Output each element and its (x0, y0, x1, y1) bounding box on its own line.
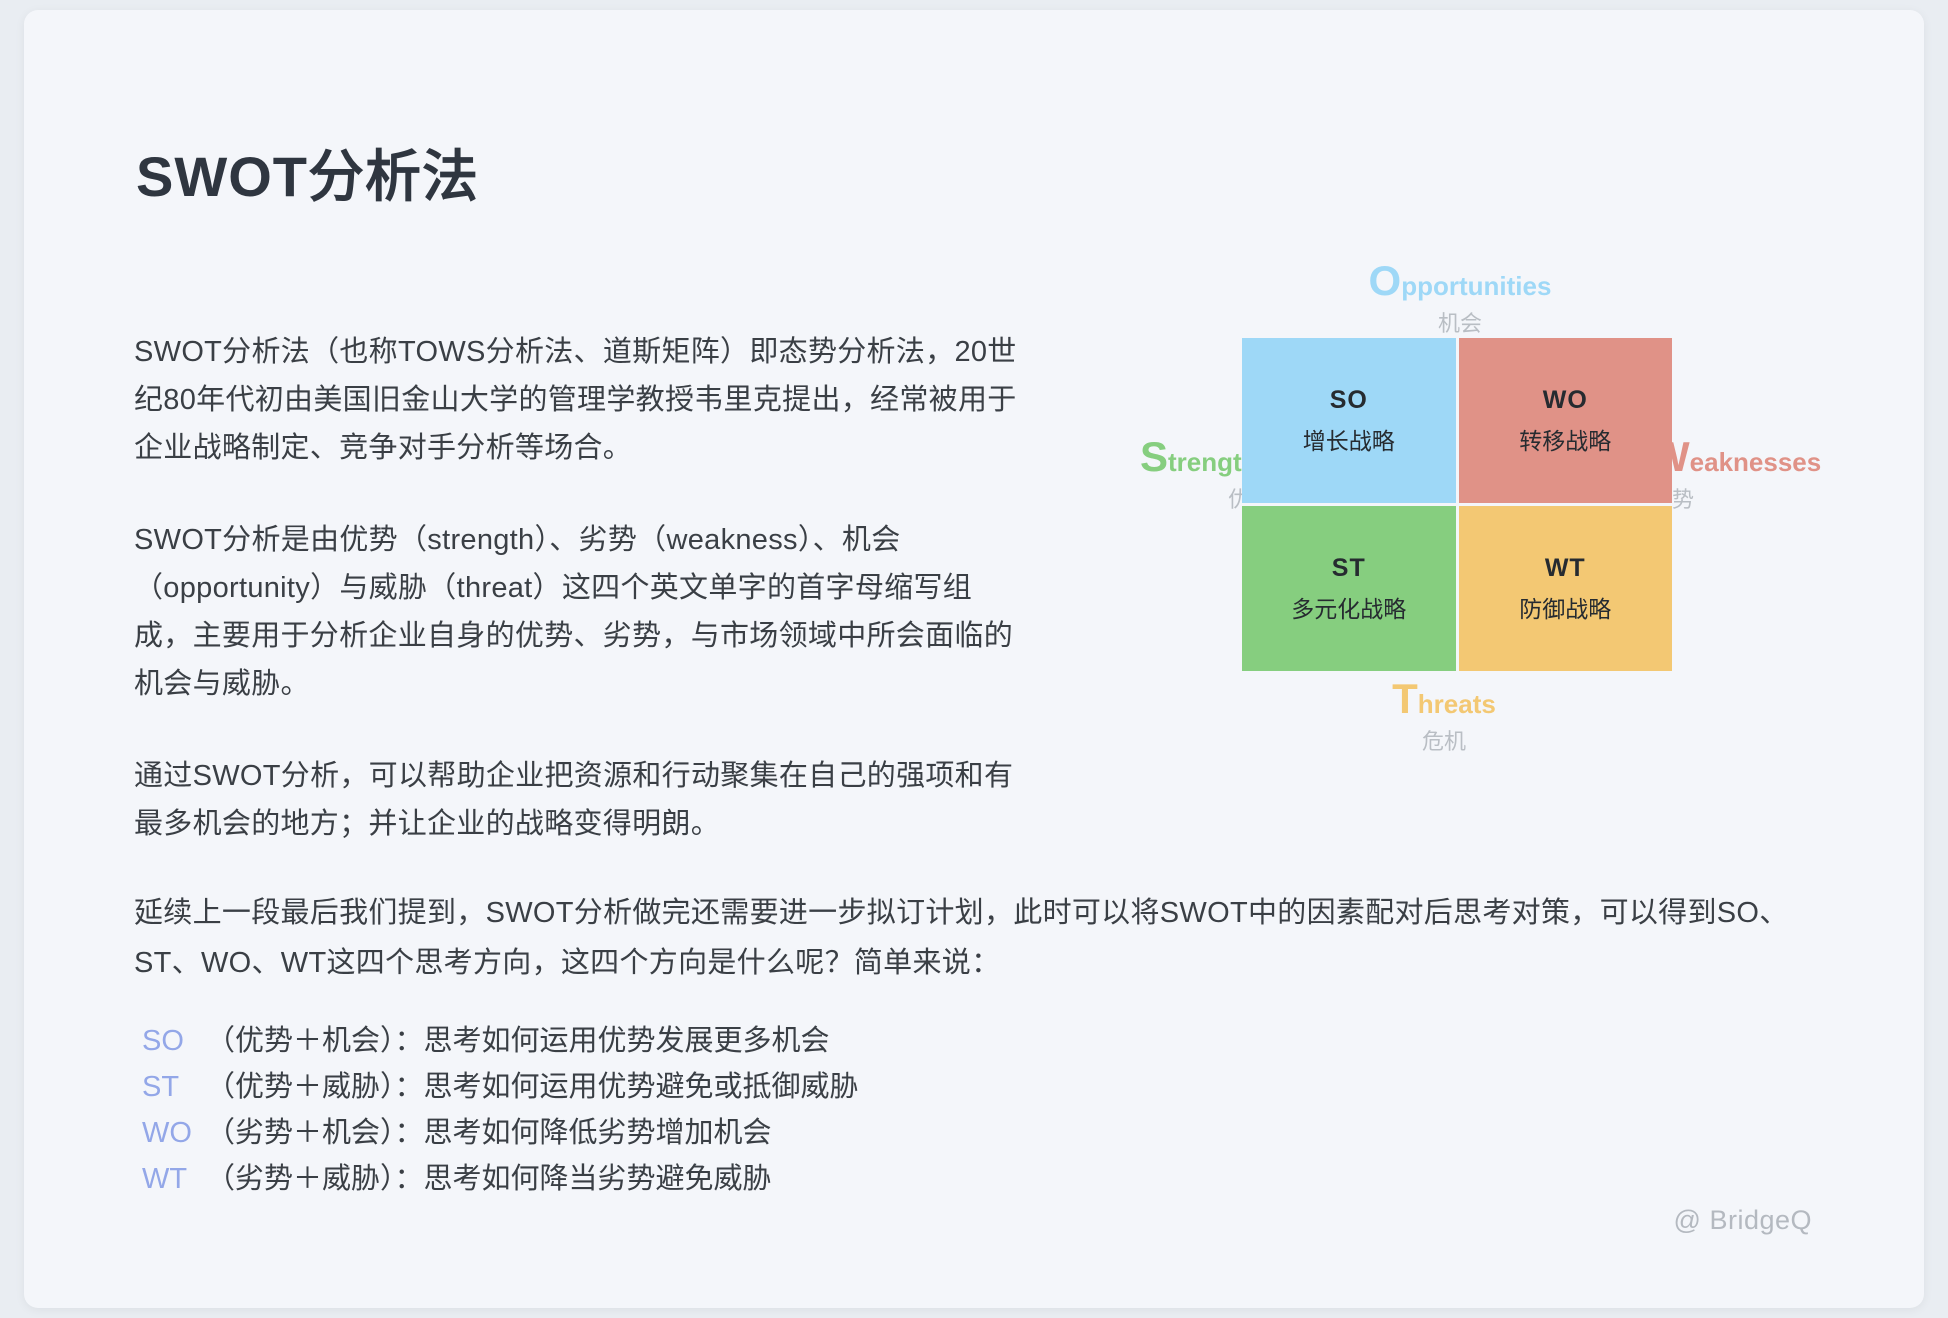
pair-code-st: ST (142, 1064, 206, 1110)
quadrant-so: SO 增长战略 (1242, 338, 1456, 503)
pair-desc-wo: （劣势＋机会）：思考如何降低劣势增加机会 (206, 1110, 772, 1156)
paragraph-2: SWOT分析是由优势（strength）、劣势（weakness）、机会（opp… (134, 516, 1019, 708)
watermark: @ BridgeQ (1674, 1205, 1812, 1236)
axis-label-weaknesses-cn: 劣势 (1650, 482, 1924, 514)
axis-label-strengths: Strengths 优势 (872, 436, 1272, 514)
quadrant-st: ST 多元化战略 (1242, 506, 1456, 671)
paragraph-3: 通过SWOT分析，可以帮助企业把资源和行动聚集在自己的强项和有最多机会的地方；并… (134, 752, 1019, 848)
axis-initial-o: O (1369, 257, 1402, 304)
quadrant-wo-label: 转移战略 (1519, 422, 1611, 456)
pair-code-wt: WT (142, 1156, 206, 1202)
body-text-column: SWOT分析法（也称TOWS分析法、道斯矩阵）即态势分析法，20世纪80年代初由… (134, 328, 1024, 892)
paragraph-wide: 延续上一段最后我们提到，SWOT分析做完还需要进一步拟订计划，此时可以将SWOT… (134, 888, 1844, 988)
axis-label-weaknesses: Weaknesses 劣势 (1650, 436, 1924, 514)
swot-quadrant-grid: SO 增长战略 WO 转移战略 ST 多元化战略 WT 防御战略 (1242, 338, 1672, 671)
quadrant-st-abbr: ST (1332, 554, 1366, 583)
list-item: WO （劣势＋机会）：思考如何降低劣势增加机会 (142, 1110, 1142, 1156)
pair-desc-wt: （劣势＋威胁）：思考如何降当劣势避免威胁 (206, 1156, 772, 1202)
quadrant-wt: WT 防御战略 (1459, 506, 1673, 671)
pair-code-wo: WO (142, 1110, 206, 1156)
axis-label-opportunities-en: Opportunities (1260, 260, 1660, 302)
pair-code-so: SO (142, 1018, 206, 1064)
axis-tail-threats: hreats (1418, 689, 1496, 719)
axis-label-opportunities-cn: 机会 (1260, 306, 1660, 338)
quadrant-wt-abbr: WT (1545, 554, 1586, 583)
axis-tail-opportunities: pportunities (1401, 271, 1551, 301)
quadrant-st-label: 多元化战略 (1291, 590, 1406, 624)
axis-label-strengths-cn: 优势 (872, 482, 1272, 514)
list-item: SO （优势＋机会）：思考如何运用优势发展更多机会 (142, 1018, 1142, 1064)
axis-label-threats-en: Threats (1244, 678, 1644, 720)
axis-label-opportunities: Opportunities 机会 (1260, 260, 1660, 338)
list-item: WT （劣势＋威胁）：思考如何降当劣势避免威胁 (142, 1156, 1142, 1202)
quadrant-so-abbr: SO (1330, 386, 1368, 415)
axis-initial-t: T (1392, 675, 1418, 722)
strategy-pair-list: SO （优势＋机会）：思考如何运用优势发展更多机会 ST （优势＋威胁）：思考如… (142, 1018, 1142, 1202)
axis-label-threats: Threats 危机 (1244, 678, 1644, 756)
list-item: ST （优势＋威胁）：思考如何运用优势避免或抵御威胁 (142, 1064, 1142, 1110)
pair-desc-st: （优势＋威胁）：思考如何运用优势避免或抵御威胁 (206, 1064, 859, 1110)
quadrant-wt-label: 防御战略 (1519, 590, 1611, 624)
pair-desc-so: （优势＋机会）：思考如何运用优势发展更多机会 (206, 1018, 830, 1064)
page-title: SWOT分析法 (136, 132, 479, 213)
quadrant-wo-abbr: WO (1543, 386, 1588, 415)
axis-label-weaknesses-en: Weaknesses (1650, 436, 1924, 478)
quadrant-so-label: 增长战略 (1303, 422, 1395, 456)
axis-initial-s: S (1140, 433, 1168, 480)
quadrant-wo: WO 转移战略 (1459, 338, 1673, 503)
axis-label-strengths-en: Strengths (872, 436, 1272, 478)
swot-matrix: Opportunities 机会 Strengths 优势 Weaknesses… (1084, 260, 1884, 730)
slide-card: SWOT分析法 SWOT分析法（也称TOWS分析法、道斯矩阵）即态势分析法，20… (24, 10, 1924, 1308)
axis-label-threats-cn: 危机 (1244, 724, 1644, 756)
axis-tail-weaknesses: eaknesses (1690, 447, 1822, 477)
